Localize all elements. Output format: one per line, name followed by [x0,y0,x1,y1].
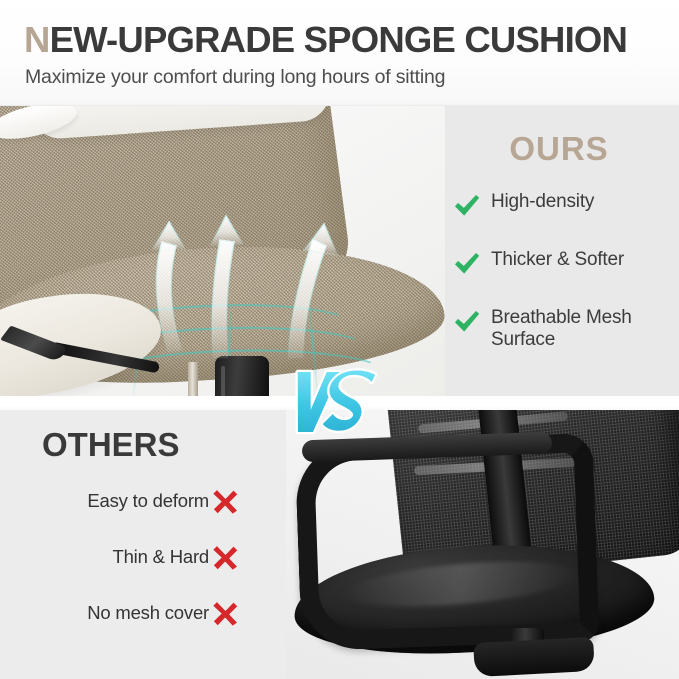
black-mesh-chair-photo [286,410,679,679]
check-icon [452,191,482,221]
others-heading: OTHERS [42,428,240,461]
header-banner: NEW-UPGRADE SPONGE CUSHION Maximize your… [0,0,679,106]
list-item-label: Thin & Hard [112,547,209,567]
cross-icon [211,543,240,572]
list-item: Thin & Hard [20,543,240,572]
beige-mesh-chair-seat-photo [0,106,445,402]
ours-feature-list-block: OURS High-density Thicker & Softer [452,132,666,377]
cross-icon [211,487,240,516]
ours-panel: OURS High-density Thicker & Softer [0,106,679,402]
list-item-label: Easy to deform [87,491,209,511]
list-item: No mesh cover [20,599,240,628]
product-comparison-infographic: NEW-UPGRADE SPONGE CUSHION Maximize your… [0,0,679,679]
chair-base [473,637,595,677]
cross-icon [211,599,240,628]
check-icon [452,249,482,279]
list-item: High-density [452,189,666,221]
others-feature-list: Easy to deform Thin & Hard No mesh cover [20,487,240,628]
others-panel: OTHERS Easy to deform Thin & Hard No mes… [0,410,679,679]
chair-armrest [294,433,599,651]
list-item-label: No mesh cover [87,603,209,623]
list-item-label: Breathable Mesh Surface [491,305,666,351]
list-item-label: High-density [491,189,594,213]
ours-feature-list: High-density Thicker & Softer Breathable… [452,189,666,351]
list-item: Easy to deform [20,487,240,516]
page-subtitle: Maximize your comfort during long hours … [25,68,445,88]
list-item: Breathable Mesh Surface [452,305,666,351]
page-title: NEW-UPGRADE SPONGE CUSHION [24,22,627,59]
list-item-label: Thicker & Softer [491,247,624,271]
check-icon [452,307,482,337]
list-item: Thicker & Softer [452,247,666,279]
vs-badge [281,366,389,438]
page-title-rest: EW-UPGRADE SPONGE CUSHION [50,19,628,60]
others-feature-list-block: OTHERS Easy to deform Thin & Hard No mes… [20,428,240,655]
page-title-lead-letter: N [24,19,50,60]
ours-heading: OURS [452,132,666,165]
